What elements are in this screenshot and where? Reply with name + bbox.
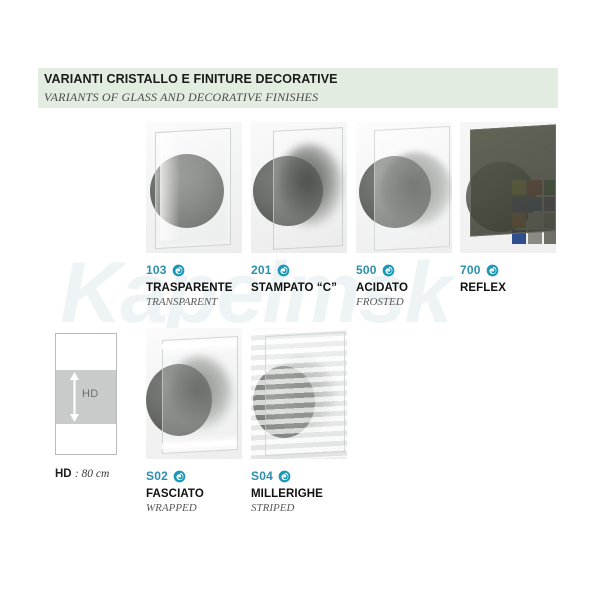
glass-variant-card-s02[interactable]: S02 FASCIATO WRAPPED xyxy=(146,328,242,514)
swatch-millerighe xyxy=(251,328,347,459)
variant-code: 103 xyxy=(146,263,167,277)
glass-variant-card-s04[interactable]: S04 MILLERIGHE STRIPED xyxy=(251,328,347,514)
textured-distortion xyxy=(277,144,343,226)
variant-code: 700 xyxy=(460,263,481,277)
variant-name-en: WRAPPED xyxy=(146,502,242,514)
glass-glare xyxy=(160,133,180,240)
frosted-distortion xyxy=(380,152,452,226)
variant-name-en: FROSTED xyxy=(356,296,452,308)
code-row: S04 xyxy=(251,468,347,484)
frosted-band-distortion xyxy=(168,356,232,430)
hd-double-arrow-icon xyxy=(69,372,80,422)
variant-name-it: REFLEX xyxy=(460,282,556,294)
variant-name-en: STRIPED xyxy=(251,502,347,514)
hd-caption-value: : 80 cm xyxy=(75,468,110,480)
glass-pane xyxy=(265,332,345,456)
variant-code: 201 xyxy=(251,263,272,277)
droplet-swirl-icon xyxy=(173,470,186,483)
swatch-stampato-c xyxy=(251,122,347,253)
glass-variant-card-201[interactable]: 201 STAMPATO “C” xyxy=(251,122,347,296)
code-row: 201 xyxy=(251,262,347,278)
hd-dimension-diagram: HD xyxy=(55,333,117,455)
code-row: 500 xyxy=(356,262,452,278)
variant-code: 500 xyxy=(356,263,377,277)
variant-name-it: STAMPATO “C” xyxy=(251,282,347,294)
page-subtitle: VARIANTS OF GLASS AND DECORATIVE FINISHE… xyxy=(44,90,318,105)
hd-band-label: HD xyxy=(82,388,99,400)
glass-pane-bronze xyxy=(470,124,556,236)
page-title: VARIANTI CRISTALLO E FINITURE DECORATIVE xyxy=(44,72,338,86)
swatch-transparent xyxy=(146,122,242,253)
swatch-fasciato xyxy=(146,328,242,459)
swatch-acidato xyxy=(356,122,452,253)
droplet-swirl-icon xyxy=(172,264,185,277)
code-row: 700 xyxy=(460,262,556,278)
catalog-page: Kapelmsk VARIANTI CRISTALLO E FINITURE D… xyxy=(0,0,600,600)
variant-code: S04 xyxy=(251,469,273,483)
droplet-swirl-icon xyxy=(486,264,499,277)
droplet-swirl-icon xyxy=(382,264,395,277)
glass-variant-card-700[interactable]: 700 REFLEX xyxy=(460,122,556,296)
variant-name-it: MILLERIGHE xyxy=(251,488,347,500)
variant-code: S02 xyxy=(146,469,168,483)
droplet-swirl-icon xyxy=(277,264,290,277)
hd-caption: HD : 80 cm xyxy=(55,468,109,480)
variant-name-it: ACIDATO xyxy=(356,282,452,294)
glass-variant-card-103[interactable]: 103 TRASPARENTE TRANSPARENT xyxy=(146,122,242,308)
swatch-reflex xyxy=(460,122,556,253)
droplet-swirl-icon xyxy=(278,470,291,483)
hd-panel-outline: HD xyxy=(55,333,117,455)
variant-name-it: TRASPARENTE xyxy=(146,282,242,294)
variant-name-it: FASCIATO xyxy=(146,488,242,500)
glass-variant-card-500[interactable]: 500 ACIDATO FROSTED xyxy=(356,122,452,308)
hd-caption-bold: HD xyxy=(55,468,72,480)
code-row: 103 xyxy=(146,262,242,278)
variant-name-en: TRANSPARENT xyxy=(146,296,242,308)
code-row: S02 xyxy=(146,468,242,484)
